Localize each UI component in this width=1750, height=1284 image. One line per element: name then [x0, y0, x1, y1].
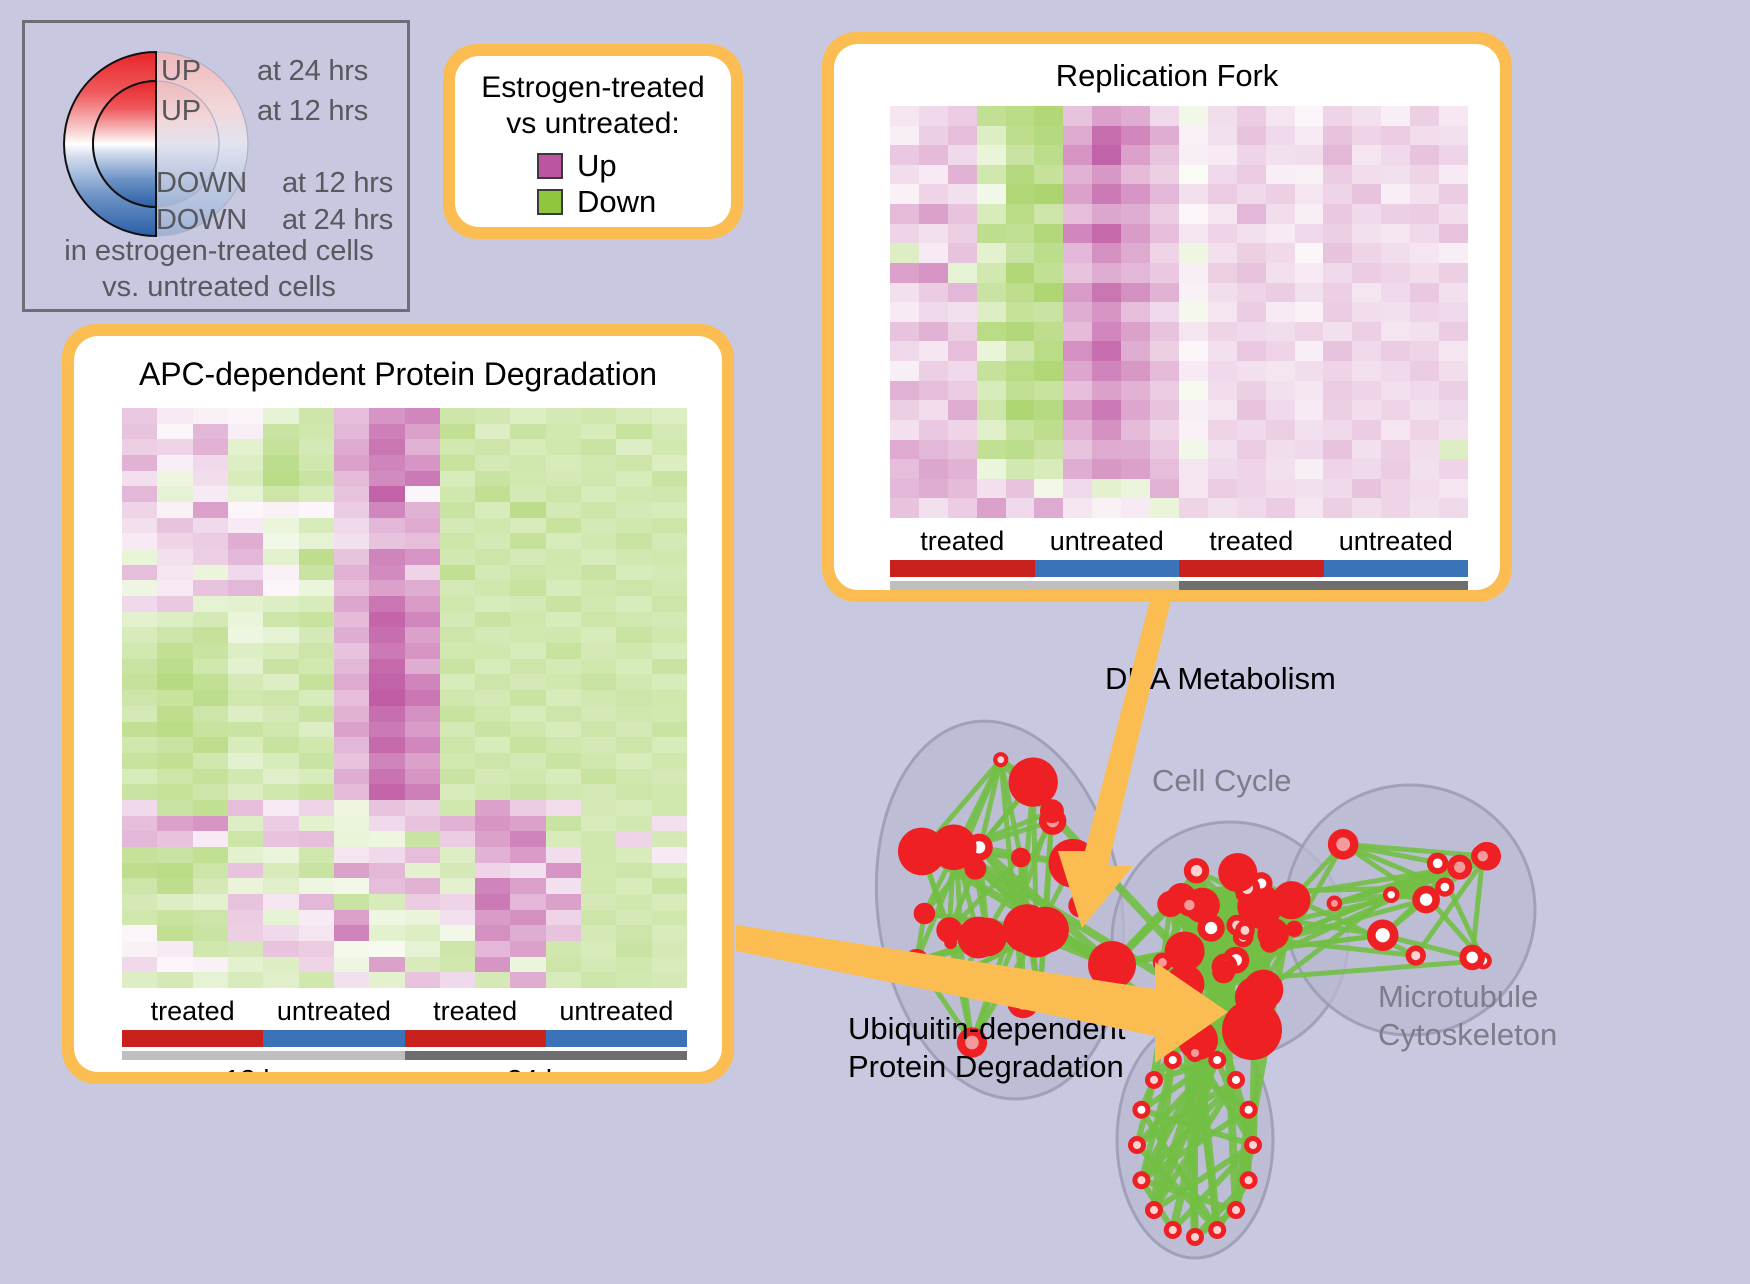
- heatmap-cell: [948, 420, 977, 440]
- heatmap-cell: [334, 910, 369, 926]
- heatmap-cell: [1150, 381, 1179, 401]
- heatmap-cell: [369, 659, 404, 675]
- heatmap-cell: [581, 408, 616, 424]
- heatmap-cell: [475, 894, 510, 910]
- heatmap-cell: [1006, 322, 1035, 342]
- heatmap-cell: [1034, 106, 1063, 126]
- heatmap-cell: [948, 400, 977, 420]
- rf-group-names: treated untreated treated untreated: [890, 526, 1468, 557]
- heatmap-cell: [652, 659, 687, 675]
- heatmap-cell: [1006, 165, 1035, 185]
- heatmap-cell: [890, 126, 919, 146]
- heatmap-cell: [1150, 361, 1179, 381]
- heatmap-cell: [1323, 106, 1352, 126]
- heatmap-cell: [369, 847, 404, 863]
- heatmap-cell: [1439, 400, 1468, 420]
- apc-group-name-0: treated: [122, 996, 263, 1027]
- heatmap-cell: [1034, 440, 1063, 460]
- heatmap-cell: [1266, 145, 1295, 165]
- heatmap-cell: [228, 910, 263, 926]
- heatmap-cell: [581, 816, 616, 832]
- heatmap-cell: [334, 847, 369, 863]
- heatmap-cell: [299, 690, 334, 706]
- heatmap-cell: [122, 439, 157, 455]
- heatmap-cell: [193, 643, 228, 659]
- heatmap-cell: [263, 863, 298, 879]
- heatmap-cell: [1121, 322, 1150, 342]
- heatmap-cell: [1266, 224, 1295, 244]
- heatmap-cell: [1034, 145, 1063, 165]
- heatmap-cell: [510, 424, 545, 440]
- apc-group-name-3: untreated: [546, 996, 687, 1027]
- heatmap-cell: [475, 753, 510, 769]
- heatmap-cell: [369, 722, 404, 738]
- heatmap-cell: [1179, 420, 1208, 440]
- heatmap-cell: [948, 204, 977, 224]
- network-node-core: [1191, 865, 1202, 876]
- heatmap-cell: [1179, 243, 1208, 263]
- heatmap-cell: [1439, 498, 1468, 518]
- rf-group-colorbar: [890, 560, 1468, 577]
- heatmap-cell: [263, 847, 298, 863]
- heatmap-cell: [1352, 459, 1381, 479]
- heatmap-cell: [948, 440, 977, 460]
- rf-timebar-24: [1179, 581, 1468, 590]
- heatmap-cell: [1410, 322, 1439, 342]
- heatmap-cell: [193, 690, 228, 706]
- heatmap-cell: [546, 643, 581, 659]
- heatmap-cell: [440, 455, 475, 471]
- heatmap-cell: [193, 706, 228, 722]
- heatmap-cell: [369, 706, 404, 722]
- heatmap-cell: [263, 784, 298, 800]
- heatmap-cell: [1208, 302, 1237, 322]
- heatmap-cell: [1439, 361, 1468, 381]
- heatmap-cell: [616, 910, 651, 926]
- heatmap-cell: [228, 486, 263, 502]
- heatmap-cell: [948, 283, 977, 303]
- heatmap-cell: [1410, 400, 1439, 420]
- heatmap-cell: [263, 612, 298, 628]
- heatmap-cell: [919, 204, 948, 224]
- heatmap-cell: [1006, 420, 1035, 440]
- heatmap-cell: [475, 424, 510, 440]
- heatmap-cell: [263, 690, 298, 706]
- heatmap-cell: [1410, 126, 1439, 146]
- heatmap-cell: [1237, 381, 1266, 401]
- heatmap-cell: [1150, 440, 1179, 460]
- heatmap-cell: [157, 894, 192, 910]
- heatmap-cell: [616, 737, 651, 753]
- heatmap-cell: [652, 784, 687, 800]
- heatmap-cell: [1063, 322, 1092, 342]
- legend-label-down: Down: [577, 186, 656, 218]
- heatmap-cell: [334, 831, 369, 847]
- heatmap-cell: [890, 165, 919, 185]
- heatmap-cell: [263, 439, 298, 455]
- heatmap-cell: [1439, 126, 1468, 146]
- heatmap-cell: [919, 420, 948, 440]
- heatmap-cell: [948, 184, 977, 204]
- network-node-core: [1016, 995, 1030, 1009]
- heatmap-cell: [510, 722, 545, 738]
- heatmap-cell: [193, 486, 228, 502]
- heatmap-cell: [193, 769, 228, 785]
- heatmap-cell: [546, 800, 581, 816]
- network-node: [1235, 976, 1278, 1019]
- heatmap-cell: [1439, 420, 1468, 440]
- heatmap-cell: [263, 894, 298, 910]
- heatmap-cell: [440, 784, 475, 800]
- heatmap-cell: [1179, 302, 1208, 322]
- heatmap-cell: [1266, 322, 1295, 342]
- heatmap-cell: [581, 737, 616, 753]
- heatmap-cell: [1208, 400, 1237, 420]
- network-node: [1212, 961, 1235, 984]
- network-node-core: [1158, 958, 1167, 967]
- heatmap-cell: [1410, 184, 1439, 204]
- heatmap-cell: [1150, 204, 1179, 224]
- network-node: [1028, 987, 1050, 1009]
- heatmap-cell: [977, 381, 1006, 401]
- heatmap-cell: [652, 486, 687, 502]
- heatmap-cell: [157, 722, 192, 738]
- heatmap-cell: [977, 165, 1006, 185]
- heatmap-cell: [652, 612, 687, 628]
- heatmap-cell: [1295, 243, 1324, 263]
- heatmap-cell: [263, 627, 298, 643]
- heatmap-cell: [369, 753, 404, 769]
- heatmap-cell: [948, 459, 977, 479]
- heatmap-cell: [581, 957, 616, 973]
- heatmap-cell: [193, 471, 228, 487]
- heatmap-cell: [1266, 459, 1295, 479]
- heatmap-cell: [1208, 341, 1237, 361]
- pathway-network-diagram: DNA Metabolism Cell Cycle Microtubule Cy…: [800, 610, 1750, 1279]
- heatmap-cell: [263, 408, 298, 424]
- heatmap-cell: [299, 471, 334, 487]
- heatmap-cell: [948, 224, 977, 244]
- heatmap-cell: [1006, 126, 1035, 146]
- heatmap-cell: [977, 420, 1006, 440]
- key-label-down-12: DOWN: [156, 167, 247, 200]
- heatmap-cell: [299, 784, 334, 800]
- heatmap-cell: [157, 831, 192, 847]
- heatmap-cell: [228, 722, 263, 738]
- heatmap-cell: [1179, 381, 1208, 401]
- heatmap-cell: [193, 455, 228, 471]
- network-node-core: [1441, 883, 1450, 892]
- heatmap-cell: [1034, 184, 1063, 204]
- heatmap-cell: [1092, 400, 1121, 420]
- heatmap-cell: [475, 455, 510, 471]
- heatmap-cell: [193, 863, 228, 879]
- apc-group-names: treated untreated treated untreated: [122, 996, 687, 1027]
- heatmap-cell: [122, 972, 157, 988]
- heatmap-cell: [1237, 243, 1266, 263]
- heatmap-cell: [1237, 479, 1266, 499]
- heatmap-cell: [546, 533, 581, 549]
- heatmap-cell: [263, 674, 298, 690]
- heatmap-cell: [157, 439, 192, 455]
- heatmap-cell: [1179, 145, 1208, 165]
- heatmap-cell: [1034, 361, 1063, 381]
- network-node-core: [1169, 1226, 1177, 1234]
- heatmap-cell: [475, 612, 510, 628]
- apc-bar-untreated-24: [546, 1030, 687, 1047]
- heatmap-cell: [1295, 498, 1324, 518]
- heatmap-cell: [652, 769, 687, 785]
- heatmap-cell: [1034, 341, 1063, 361]
- heatmap-cell: [157, 784, 192, 800]
- heatmap-cell: [1237, 224, 1266, 244]
- heatmap-cell: [299, 408, 334, 424]
- heatmap-cell: [1092, 283, 1121, 303]
- heatmap-cell: [652, 753, 687, 769]
- heatmap-cell: [1266, 184, 1295, 204]
- heatmap-cell: [475, 769, 510, 785]
- heatmap-cell: [1381, 440, 1410, 460]
- heatmap-cell: [510, 674, 545, 690]
- heatmap-cell: [122, 627, 157, 643]
- heatmap-cell: [228, 831, 263, 847]
- heatmap-cell: [1006, 204, 1035, 224]
- key-time-up-12: at 12 hrs: [257, 95, 368, 128]
- heatmap-cell: [977, 145, 1006, 165]
- heatmap-cell: [122, 408, 157, 424]
- heatmap-cell: [440, 612, 475, 628]
- heatmap-cell: [616, 408, 651, 424]
- heatmap-cell: [581, 972, 616, 988]
- heatmap-cell: [1092, 420, 1121, 440]
- heatmap-cell: [919, 106, 948, 126]
- heatmap-cell: [1410, 498, 1439, 518]
- heatmap-cell: [652, 972, 687, 988]
- heatmap-cell: [263, 737, 298, 753]
- heatmap-cell: [405, 863, 440, 879]
- heatmap-cell: [1381, 361, 1410, 381]
- heatmap-cell: [890, 440, 919, 460]
- heatmap-cell: [122, 471, 157, 487]
- heatmap-cell: [1323, 459, 1352, 479]
- heatmap-cell: [1266, 204, 1295, 224]
- heatmap-cell: [546, 627, 581, 643]
- heatmap-cell: [948, 106, 977, 126]
- heatmap-cell: [1439, 283, 1468, 303]
- heatmap-cell: [510, 502, 545, 518]
- heatmap-cell: [616, 455, 651, 471]
- heatmap-cell: [299, 533, 334, 549]
- heatmap-cell: [1237, 341, 1266, 361]
- heatmap-cell: [1150, 243, 1179, 263]
- heatmap-cell: [1381, 126, 1410, 146]
- heatmap-cell: [334, 612, 369, 628]
- heatmap-cell: [581, 690, 616, 706]
- heatmap-cell: [405, 596, 440, 612]
- heatmap-cell: [369, 674, 404, 690]
- heatmap-cell: [157, 925, 192, 941]
- heatmap-cell: [977, 322, 1006, 342]
- heatmap-cell: [919, 243, 948, 263]
- network-node-core: [1232, 1206, 1240, 1214]
- heatmap-cell: [122, 957, 157, 973]
- heatmap-cell: [616, 769, 651, 785]
- heatmap-cell: [510, 784, 545, 800]
- heatmap-cell: [1352, 361, 1381, 381]
- heatmap-cell: [1121, 283, 1150, 303]
- heatmap-cell: [369, 925, 404, 941]
- heatmap-cell: [1352, 126, 1381, 146]
- heatmap-cell: [1439, 322, 1468, 342]
- heatmap-cell: [616, 565, 651, 581]
- heatmap-cell: [1092, 263, 1121, 283]
- heatmap-cell: [581, 925, 616, 941]
- heatmap-cell: [581, 800, 616, 816]
- heatmap-cell: [1323, 381, 1352, 401]
- heatmap-cell: [122, 753, 157, 769]
- heatmap-cell: [157, 596, 192, 612]
- heatmap-cell: [299, 800, 334, 816]
- heatmap-cell: [334, 972, 369, 988]
- heatmap-cell: [334, 800, 369, 816]
- heatmap-cell: [157, 674, 192, 690]
- heatmap-cell: [193, 439, 228, 455]
- heatmap-cell: [546, 910, 581, 926]
- heatmap-cell: [193, 957, 228, 973]
- heatmap-cell: [1323, 479, 1352, 499]
- heatmap-cell: [1208, 361, 1237, 381]
- heatmap-cell: [1063, 498, 1092, 518]
- heatmap-cell: [475, 847, 510, 863]
- heatmap-cell: [122, 455, 157, 471]
- heatmap-cell: [616, 471, 651, 487]
- heatmap-cell: [1150, 400, 1179, 420]
- heatmap-cell: [581, 674, 616, 690]
- heatmap-cell: [405, 957, 440, 973]
- heatmap-cell: [1063, 341, 1092, 361]
- heatmap-cell: [228, 533, 263, 549]
- heatmap-cell: [1439, 263, 1468, 283]
- heatmap-cell: [1295, 204, 1324, 224]
- heatmap-cell: [581, 486, 616, 502]
- heatmap-cell: [919, 126, 948, 146]
- heatmap-cell: [334, 941, 369, 957]
- heatmap-cell: [1063, 440, 1092, 460]
- heatmap-cell: [1352, 165, 1381, 185]
- heatmap-cell: [581, 596, 616, 612]
- heatmap-cell: [948, 361, 977, 381]
- heatmap-cell: [1295, 440, 1324, 460]
- heatmap-cell: [581, 518, 616, 534]
- heatmap-cell: [334, 424, 369, 440]
- heatmap-cell: [475, 863, 510, 879]
- heatmap-cell: [1295, 420, 1324, 440]
- heatmap-cell: [581, 847, 616, 863]
- apc-panel-title: APC-dependent Protein Degradation: [74, 336, 722, 393]
- heatmap-cell: [546, 957, 581, 973]
- heatmap-cell: [652, 878, 687, 894]
- heatmap-cell: [1208, 459, 1237, 479]
- heatmap-cell: [334, 502, 369, 518]
- rf-group-name-0: treated: [890, 526, 1035, 557]
- heatmap-cell: [1121, 302, 1150, 322]
- heatmap-cell: [440, 769, 475, 785]
- heatmap-cell: [1121, 341, 1150, 361]
- heatmap-cell: [228, 643, 263, 659]
- heatmap-cell: [1092, 204, 1121, 224]
- heatmap-cell: [977, 224, 1006, 244]
- heatmap-cell: [1092, 243, 1121, 263]
- heatmap-cell: [405, 486, 440, 502]
- heatmap-cell: [1006, 361, 1035, 381]
- heatmap-cell: [299, 831, 334, 847]
- heatmap-cell: [263, 722, 298, 738]
- heatmap-cell: [1410, 165, 1439, 185]
- heatmap-cell: [1323, 440, 1352, 460]
- heatmap-cell: [440, 831, 475, 847]
- heatmap-cell: [581, 643, 616, 659]
- heatmap-cell: [334, 878, 369, 894]
- heatmap-cell: [890, 322, 919, 342]
- heatmap-cell: [475, 737, 510, 753]
- heatmap-cell: [228, 941, 263, 957]
- heatmap-cell: [299, 424, 334, 440]
- heatmap-cell: [1237, 165, 1266, 185]
- heatmap-cell: [546, 737, 581, 753]
- heatmap-cell: [369, 471, 404, 487]
- heatmap-cell: [1439, 243, 1468, 263]
- heatmap-cell: [122, 424, 157, 440]
- heatmap-cell: [1352, 420, 1381, 440]
- heatmap-cell: [334, 769, 369, 785]
- heatmap-cell: [334, 737, 369, 753]
- heatmap-cell: [193, 408, 228, 424]
- heatmap-cell: [1150, 479, 1179, 499]
- heatmap-cell: [510, 612, 545, 628]
- heatmap-cell: [228, 816, 263, 832]
- heatmap-cell: [157, 737, 192, 753]
- heatmap-cell: [228, 439, 263, 455]
- heatmap-cell: [193, 674, 228, 690]
- heatmap-cell: [1063, 184, 1092, 204]
- network-node: [1023, 907, 1069, 953]
- heatmap-cell: [299, 549, 334, 565]
- heatmap-cell: [1208, 322, 1237, 342]
- heatmap-cell: [1323, 224, 1352, 244]
- heatmap-cell: [157, 847, 192, 863]
- cluster-label-microtubule-cytoskeleton: Microtubule Cytoskeleton: [1378, 978, 1557, 1054]
- heatmap-cell: [546, 565, 581, 581]
- heatmap-cell: [369, 533, 404, 549]
- heatmap-cell: [890, 283, 919, 303]
- heatmap-cell: [334, 706, 369, 722]
- heatmap-cell: [1295, 322, 1324, 342]
- heatmap-cell: [1150, 165, 1179, 185]
- heatmap-cell: [475, 518, 510, 534]
- heatmap-cell: [616, 941, 651, 957]
- heatmap-cell: [652, 643, 687, 659]
- heatmap-cell: [157, 502, 192, 518]
- key-label-up-24: UP: [161, 55, 201, 88]
- heatmap-cell: [546, 408, 581, 424]
- heatmap-cell: [369, 878, 404, 894]
- replication-fork-title: Replication Fork: [834, 44, 1500, 94]
- heatmap-cell: [1006, 145, 1035, 165]
- rf-bar-treated-12: [890, 560, 1035, 577]
- heatmap-cell: [1237, 263, 1266, 283]
- heatmap-cell: [193, 878, 228, 894]
- heatmap-cell: [369, 863, 404, 879]
